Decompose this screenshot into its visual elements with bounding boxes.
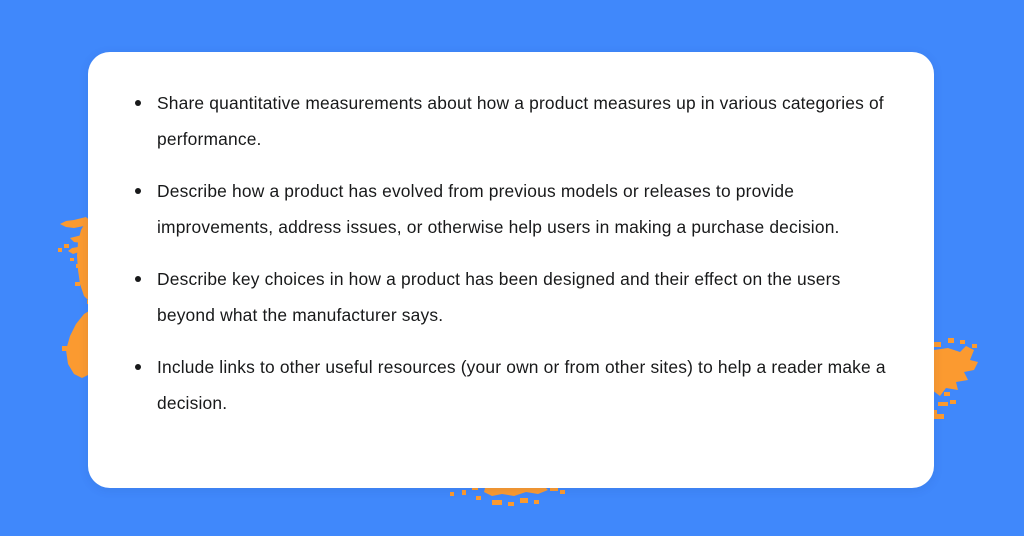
bullet-dot-icon bbox=[135, 276, 141, 282]
list-item-text: Include links to other useful resources … bbox=[157, 349, 896, 421]
list-item: Include links to other useful resources … bbox=[133, 349, 896, 421]
bullet-dot-icon bbox=[135, 188, 141, 194]
list-item-text: Share quantitative measurements about ho… bbox=[157, 85, 896, 157]
list-item-text: Describe key choices in how a product ha… bbox=[157, 261, 896, 333]
bullet-dot-icon bbox=[135, 100, 141, 106]
content-card: Share quantitative measurements about ho… bbox=[88, 52, 934, 488]
list-item: Share quantitative measurements about ho… bbox=[133, 85, 896, 157]
slide-canvas: Share quantitative measurements about ho… bbox=[0, 0, 1024, 536]
list-item: Describe how a product has evolved from … bbox=[133, 173, 896, 245]
list-item: Describe key choices in how a product ha… bbox=[133, 261, 896, 333]
bullet-dot-icon bbox=[135, 364, 141, 370]
bullet-list: Share quantitative measurements about ho… bbox=[133, 85, 896, 421]
list-item-text: Describe how a product has evolved from … bbox=[157, 173, 896, 245]
